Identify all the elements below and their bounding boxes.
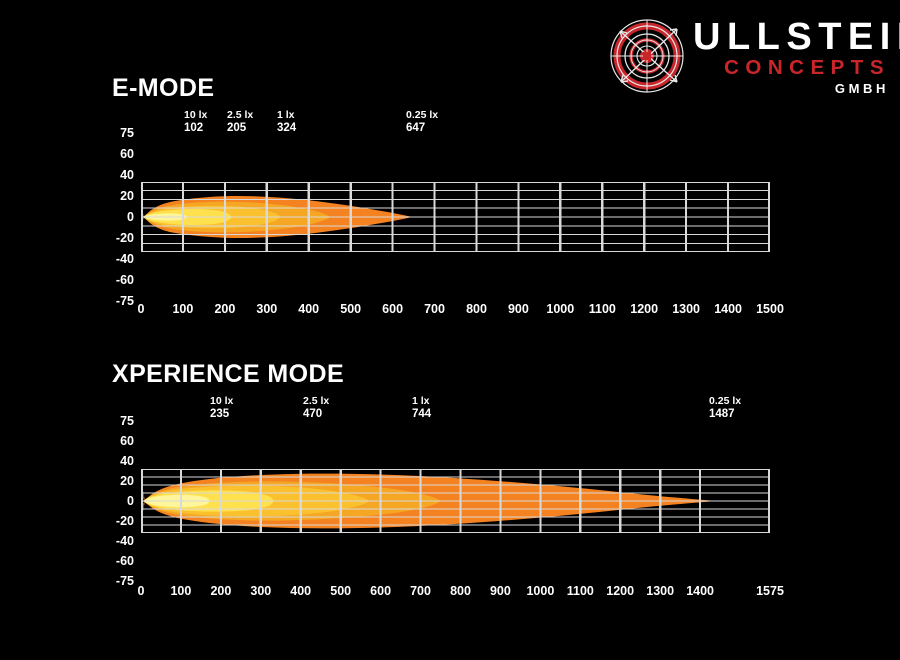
x-tick: 500	[340, 303, 361, 316]
marker-lux-value: 1 lx	[412, 396, 431, 408]
x-tick: 1200	[630, 303, 658, 316]
x-tick: 1575	[756, 585, 784, 598]
marker-lux-value: 10 lx	[184, 110, 207, 122]
x-tick: 1100	[589, 303, 616, 316]
x-tick: 300	[250, 585, 271, 598]
x-tick: 700	[424, 303, 445, 316]
y-tick: 0	[127, 211, 134, 224]
y-tick: 20	[120, 190, 134, 203]
y-tick: -60	[116, 555, 134, 568]
x-tick: 1500	[756, 303, 784, 316]
y-tick: 60	[120, 435, 134, 448]
y-tick: 60	[120, 148, 134, 161]
marker-lux-value: 10 lx	[210, 396, 233, 408]
x-tick: 900	[508, 303, 529, 316]
marker-lux-value: 2.5 lx	[227, 110, 253, 122]
light-beam-pattern-poster: ULLSTEIN CONCEPTS GMBH E-MODE 10 lx 102 …	[0, 0, 900, 660]
x-tick: 100	[170, 585, 191, 598]
plot-area-e-mode	[141, 133, 770, 301]
x-tick: 500	[330, 585, 351, 598]
y-tick: -20	[116, 232, 134, 245]
y-axis-labels-e-mode: 75 60 40 20 0 -20 -40 -60 -75	[108, 130, 134, 298]
y-tick: -40	[116, 535, 134, 548]
marker-10lx: 10 lx 102	[184, 110, 207, 135]
x-tick: 1000	[546, 303, 574, 316]
marker-1lx: 1 lx 324	[277, 110, 296, 135]
y-axis-labels-xperience-mode: 75 60 40 20 0 -20 -40 -60 -75	[108, 418, 134, 580]
marker-2.5lx: 2.5 lx 470	[303, 396, 329, 421]
y-tick: 75	[120, 415, 134, 428]
y-tick: 0	[127, 495, 134, 508]
chart-title-xperience-mode: XPERIENCE MODE	[112, 362, 344, 387]
x-tick: 0	[138, 585, 145, 598]
x-tick: 600	[370, 585, 391, 598]
company-logo: ULLSTEIN CONCEPTS GMBH	[607, 14, 892, 96]
marker-10lx: 10 lx 235	[210, 396, 233, 421]
y-tick: -20	[116, 515, 134, 528]
x-tick: 1200	[606, 585, 634, 598]
marker-distance-value: 744	[412, 408, 431, 421]
marker-distance-value: 470	[303, 408, 329, 421]
logo-brand-text: ULLSTEIN	[693, 18, 900, 56]
x-tick: 200	[210, 585, 231, 598]
x-tick: 1400	[714, 303, 742, 316]
marker-1lx: 1 lx 744	[412, 396, 431, 421]
x-tick: 1100	[567, 585, 594, 598]
logo-wordmark: ULLSTEIN CONCEPTS GMBH	[693, 18, 892, 94]
marker-lux-value: 2.5 lx	[303, 396, 329, 408]
y-tick: 40	[120, 455, 134, 468]
y-tick: -75	[116, 575, 134, 588]
marker-0.25lx: 0.25 lx 1487	[709, 396, 741, 421]
logo-sub-text: CONCEPTS	[724, 58, 890, 79]
y-tick: 40	[120, 169, 134, 182]
y-tick: 75	[120, 127, 134, 140]
x-tick: 1300	[672, 303, 700, 316]
marker-lux-value: 0.25 lx	[406, 110, 438, 122]
x-tick: 400	[290, 585, 311, 598]
target-crosshair-icon	[607, 14, 687, 94]
x-tick: 1000	[526, 585, 554, 598]
x-tick: 1300	[646, 585, 674, 598]
y-tick: -75	[116, 295, 134, 308]
marker-2.5lx: 2.5 lx 205	[227, 110, 253, 135]
chart-title-e-mode: E-MODE	[112, 76, 214, 101]
marker-distance-value: 1487	[709, 408, 741, 421]
x-tick: 400	[298, 303, 319, 316]
logo-suffix-text: GMBH	[835, 82, 889, 95]
marker-lux-value: 0.25 lx	[709, 396, 741, 408]
x-tick: 900	[490, 585, 511, 598]
x-tick: 800	[450, 585, 471, 598]
marker-lux-value: 1 lx	[277, 110, 296, 122]
x-tick: 100	[172, 303, 193, 316]
x-tick: 1400	[686, 585, 714, 598]
x-tick: 600	[382, 303, 403, 316]
x-tick: 700	[410, 585, 431, 598]
y-tick: -40	[116, 253, 134, 266]
x-tick: 800	[466, 303, 487, 316]
x-tick: 300	[256, 303, 277, 316]
plot-area-xperience-mode	[141, 421, 770, 581]
x-tick: 0	[138, 303, 145, 316]
grid-lines-e-mode	[141, 182, 770, 251]
y-tick: 20	[120, 475, 134, 488]
x-tick: 200	[214, 303, 235, 316]
marker-0.25lx: 0.25 lx 647	[406, 110, 438, 135]
marker-distance-value: 235	[210, 408, 233, 421]
y-tick: -60	[116, 274, 134, 287]
